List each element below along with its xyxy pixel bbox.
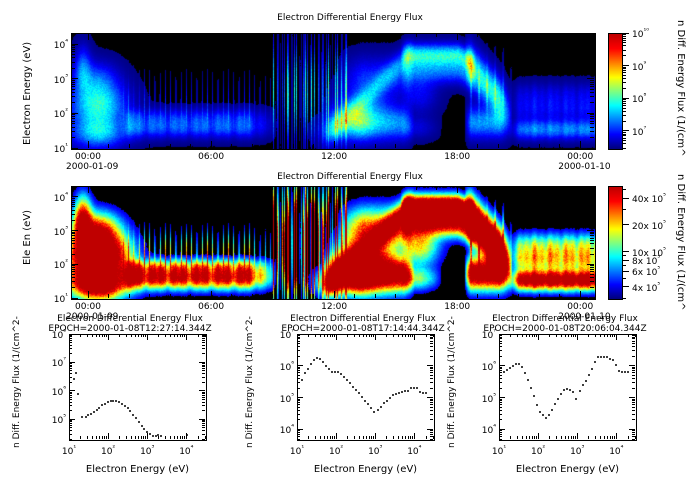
ytick-minor [71,47,75,48]
ytick-minor-right [590,137,594,138]
ytick-minor-right [202,370,205,371]
spectrum-1-ylabel: n Diff. Energy Flux (1/(cm^2- [12,316,22,448]
ytick-minor [69,365,72,366]
xtick-minor [231,144,232,148]
cbar-tick-minor [622,111,626,112]
xtick-minor [180,436,181,439]
ytick-minor [69,377,72,378]
data-point [112,400,114,402]
xtick-minor-top [426,334,427,337]
data-point [343,376,345,378]
xtick-label: 00:00 [558,302,602,312]
data-point [110,400,112,402]
ytick-minor-right [202,382,205,383]
xtick-minor [612,436,613,439]
ytick-label: 10⁵ [268,392,294,405]
xtick-minor-top [375,186,376,190]
data-point [149,433,151,435]
ytick-minor-right [590,92,594,93]
cbar-tick-label: 20x 10⁵ [632,219,666,232]
xtick-minor-top [477,33,478,37]
xtick-minor [402,436,403,439]
xtick-minor [366,436,367,439]
ytick-minor-right [202,373,205,374]
ytick-minor-right [202,393,205,394]
data-point [370,407,372,409]
cbar-tick-minor [622,70,626,71]
xtick-major-top [297,334,298,340]
ytick-minor-right [590,116,594,117]
xtick-minor [354,294,355,298]
ytick-minor-right [590,206,594,207]
xtick-minor-top [628,334,629,337]
xtick-label: 00:00 [66,152,110,162]
xtick-minor-top [529,334,530,337]
xtick-major [580,141,581,148]
xtick-minor [575,436,576,439]
xtick-minor [436,144,437,148]
ytick-major-right [587,78,594,79]
data-point [521,366,523,368]
data-point [621,371,623,373]
xtick-minor [138,436,139,439]
ytick-minor [71,96,75,97]
ytick-major-right [587,230,594,231]
cbar-tick-label: 10x 10⁵ [632,246,666,259]
data-point [591,368,593,370]
data-point [328,368,330,370]
ytick-minor-right [590,198,594,199]
data-point [143,428,145,430]
ytick-minor-right [202,392,205,393]
ytick-label: 10⁵ [40,413,66,426]
top-panel-ylabel: Electron Energy (eV) [22,42,33,145]
xtick-major [580,291,581,298]
spectrum-3-xlabel: Electron Energy (eV) [495,464,640,475]
ytick-minor [71,84,75,85]
ytick-label: 10³ [41,73,68,86]
xaxis-date-left: 2000-01-09 [66,162,110,172]
ytick-minor-right [632,439,635,440]
xtick-minor-top [252,33,253,37]
xtick-minor-top [149,33,150,37]
xtick-minor [369,436,370,439]
xtick-minor-top [313,33,314,37]
middle-spectrogram-image [71,186,596,300]
cbar-tick-minor [622,105,626,106]
top-colorbar-label: n Diff. Energy Flux (1/(cm^ [675,20,686,157]
data-point [346,379,348,381]
ytick-minor [69,439,72,440]
data-point [575,398,577,400]
xtick-minor-top [395,33,396,37]
ytick-minor-right [430,407,433,408]
ytick-minor [297,400,300,401]
spectrum-2-plot [297,334,435,441]
xtick-minor [561,436,562,439]
ytick-minor-right [590,89,594,90]
xtick-minor-top [526,334,527,337]
cbar-tick-minor [622,121,626,122]
xtick-major-top [108,334,109,340]
data-point [597,356,599,358]
ytick-label: 10² [41,107,68,120]
xtick-minor [395,144,396,148]
xtick-major-top [186,334,187,340]
cbar-tick-minor [622,255,626,256]
ytick-major-right [199,390,205,391]
cbar-tick-minor [622,40,626,41]
ytick-minor-right [632,368,635,369]
xtick-minor [315,436,316,439]
xtick-minor [104,436,105,439]
ytick-minor-right [632,404,635,405]
xtick-minor-top [412,334,413,337]
xtick-label: 10⁴ [170,444,202,457]
xtick-minor [170,436,171,439]
ytick-minor-right [590,62,594,63]
ytick-minor [499,400,502,401]
xtick-minor-top [571,334,572,337]
ytick-minor-right [590,265,594,266]
data-point [536,404,538,406]
data-point [325,365,327,367]
ytick-minor-right [202,410,205,411]
xtick-minor-top [347,334,348,337]
ytick-minor [69,425,72,426]
ytick-major [71,78,78,79]
ytick-major-right [427,397,433,398]
xtick-major [538,433,539,439]
ytick-minor [71,232,75,233]
ytick-minor [71,281,75,282]
ytick-minor-right [632,370,635,371]
data-point [515,363,517,365]
xtick-minor-top [559,186,560,190]
data-point [585,380,587,382]
ytick-major [297,365,303,366]
ytick-minor-right [590,248,594,249]
xtick-minor-top [614,334,615,337]
xtick-major [186,433,187,439]
xtick-minor [398,436,399,439]
ytick-label: 10⁷ [470,328,496,341]
ytick-minor [69,423,72,424]
ytick-label: 10² [41,258,68,271]
data-point [90,413,92,415]
data-point [606,356,608,358]
ytick-minor [71,57,75,58]
ytick-minor-right [590,49,594,50]
ytick-minor-right [632,343,635,344]
xtick-minor-top [138,334,139,337]
ytick-minor-right [632,430,635,431]
ytick-minor [297,350,300,351]
xtick-minor [190,144,191,148]
xtick-minor-top [354,33,355,37]
ytick-minor-right [202,353,205,354]
ytick-minor [297,382,300,383]
ytick-minor-right [202,363,205,364]
ytick-minor [297,343,300,344]
xtick-minor-top [522,334,523,337]
xtick-minor [518,294,519,298]
ytick-minor-right [430,439,433,440]
xtick-minor [131,436,132,439]
ytick-minor [297,346,300,347]
xtick-major [88,291,89,298]
data-point [367,403,369,405]
ytick-minor [297,414,300,415]
cbar-tick-minor [622,34,626,35]
ytick-minor [71,204,75,205]
cbar-tick-label: 6x 10⁵ [632,265,660,278]
ytick-minor [71,137,75,138]
xtick-minor-top [135,334,136,337]
xtick-minor-top [190,33,191,37]
ytick-minor-right [590,96,594,97]
ytick-minor [69,373,72,374]
data-point [395,393,397,395]
ytick-minor-right [590,118,594,119]
xtick-minor-top [190,186,191,190]
ytick-minor [71,54,75,55]
xtick-minor [635,436,636,439]
data-point [530,387,532,389]
xtick-minor-top [205,334,206,337]
ytick-minor [69,382,72,383]
xtick-minor-top [99,334,100,337]
data-point [129,410,131,412]
xtick-minor [522,436,523,439]
ytick-minor [69,340,72,341]
data-point [93,411,95,413]
ytick-minor [69,395,72,396]
ytick-minor [71,214,75,215]
xtick-major [88,141,89,148]
ytick-minor-right [202,425,205,426]
xtick-minor-top [561,334,562,337]
xtick-minor-top [568,334,569,337]
xtick-minor [313,294,314,298]
ytick-major [71,298,78,299]
data-point [615,364,617,366]
ytick-minor-right [202,439,205,440]
ytick-minor-right [430,343,433,344]
data-point [506,369,508,371]
xtick-minor-top [612,334,613,337]
data-point [73,378,75,380]
data-point [316,357,318,359]
xtick-minor [252,144,253,148]
ytick-label: 10¹ [41,142,68,155]
data-point [98,407,100,409]
cbar-tick-minor [622,78,626,79]
xtick-minor [108,144,109,148]
xtick-minor [416,144,417,148]
xtick-label: 10⁴ [600,444,632,457]
ytick-minor-right [632,414,635,415]
xtick-major-top [88,186,89,193]
xtick-minor [408,436,409,439]
xtick-minor-top [180,334,181,337]
ytick-minor-right [590,45,594,46]
xtick-minor-top [610,334,611,337]
ytick-minor-right [430,338,433,339]
cbar-tick-minor [622,103,626,104]
data-point [612,359,614,361]
data-point [569,389,571,391]
middle-colorbar-label: n Diff. Energy Flux (1/(cm^ [675,174,686,311]
spectrum-3-title: Electron Differential Energy Flux [455,314,675,324]
data-point [380,406,382,408]
ytick-minor-right [632,378,635,379]
xaxis-date-right: 2000-01-10 [558,162,602,172]
xtick-minor-top [375,33,376,37]
data-point [419,391,421,393]
xtick-minor [141,436,142,439]
xtick-minor-top [510,334,511,337]
cbar-tick-minor [622,224,626,225]
ytick-minor [297,341,300,342]
xtick-minor-top [386,334,387,337]
cbar-tick-minor [622,101,626,102]
ytick-minor-right [632,388,635,389]
ytick-label: 10⁴ [470,423,496,436]
xtick-minor [373,436,374,439]
xtick-minor [231,294,232,298]
xtick-minor [477,144,478,148]
data-point [301,379,303,381]
xtick-minor [135,436,136,439]
xtick-minor [375,144,376,148]
ytick-label: 10⁴ [41,191,68,204]
xtick-label: 00:00 [558,152,602,162]
data-point [548,414,550,416]
xtick-minor-top [143,334,144,337]
ytick-label: 10⁵ [470,392,496,405]
cbar-tick-minor [622,251,626,252]
xtick-minor-top [158,334,159,337]
ytick-minor [297,404,300,405]
ytick-minor-right [202,423,205,424]
xtick-minor [498,144,499,148]
ytick-minor [71,86,75,87]
data-point [563,389,565,391]
ytick-minor [71,51,75,52]
ytick-minor [297,419,300,420]
ytick-minor [297,439,300,440]
data-point [410,387,412,389]
xtick-minor [371,436,372,439]
xtick-minor-top [231,33,232,37]
data-point [539,411,541,413]
xtick-minor [610,436,611,439]
xtick-major [616,433,617,439]
xtick-minor [272,144,273,148]
xtick-minor-top [324,334,325,337]
xtick-minor [536,436,537,439]
ytick-minor-right [632,419,635,420]
spectrum-1-plot [69,334,207,441]
cbar-tick-minor [622,260,626,261]
ytick-major-right [629,365,635,366]
ytick-minor [297,378,300,379]
data-point [361,396,363,398]
ytick-minor-right [632,356,635,357]
data-point [358,392,360,394]
xtick-minor [334,436,335,439]
xtick-minor-top [119,334,120,337]
ytick-minor-right [430,388,433,389]
data-point [101,404,103,406]
ytick-minor [297,399,300,400]
top-spectrogram-image [71,33,596,150]
spectrum-1-xlabel: Electron Energy (eV) [65,464,210,475]
xtick-minor [565,436,566,439]
xtick-minor-top [436,33,437,37]
ytick-minor [69,348,72,349]
xtick-minor-top [595,334,596,337]
ytick-minor [297,388,300,389]
ytick-minor [71,265,75,266]
xtick-minor [573,436,574,439]
ytick-minor-right [202,420,205,421]
xtick-major-top [375,334,376,340]
data-point [77,393,79,395]
data-point [594,361,596,363]
ytick-major [499,365,505,366]
ytick-minor-right [202,434,205,435]
xtick-minor [324,436,325,439]
cbar-tick-minor [622,278,626,279]
xtick-major [297,433,298,439]
cbar-tick-label: 40x 10⁵ [632,192,666,205]
ytick-minor [69,402,72,403]
ytick-minor [69,397,72,398]
cbar-tick-minor [622,189,626,190]
ytick-minor [499,402,502,403]
xtick-minor-top [518,33,519,37]
cbar-tick-label: 10⁷ [632,125,646,138]
data-point [132,414,134,416]
xtick-minor [198,436,199,439]
data-point [337,371,339,373]
ytick-minor-right [202,342,205,343]
ytick-minor [71,127,75,128]
cbar-tick-minor [622,88,626,89]
ytick-minor [71,243,75,244]
data-point [554,403,556,405]
data-point [118,401,120,403]
ytick-minor [69,345,72,346]
ytick-minor-right [632,407,635,408]
ytick-minor-right [430,367,433,368]
ytick-minor-right [202,368,205,369]
data-point [364,400,366,402]
xtick-minor-top [104,334,105,337]
cbar-tick-minor [622,65,626,66]
xtick-minor-top [106,334,107,337]
xtick-minor [532,436,533,439]
xtick-minor [158,436,159,439]
ytick-minor [71,116,75,117]
xtick-major-top [211,186,212,193]
ytick-minor [69,368,72,369]
data-point [307,368,309,370]
data-point [404,390,406,392]
ytick-minor-right [590,121,594,122]
